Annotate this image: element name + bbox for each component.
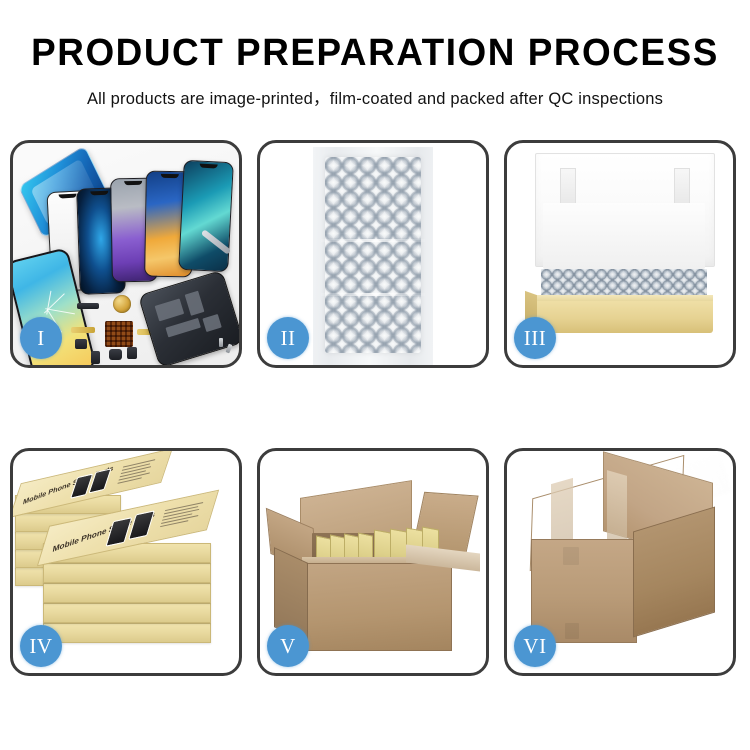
part-copper-mesh [105,321,133,347]
part-flex-cable-left [71,327,95,333]
step-badge-1: I [20,317,62,359]
process-panel-3: III [504,140,736,368]
process-panel-2: II [257,140,489,368]
process-panel-grid: I II III [10,140,740,676]
page-title: PRODUCT PREPARATION PROCESS [11,34,739,74]
process-panel-1: I [10,140,242,368]
box-stack-right-3 [43,583,211,603]
step-badge-5: V [267,625,309,667]
wrap-seam-2 [321,293,425,296]
box-stack-right-5 [43,623,211,643]
kraft-box-front [533,301,713,333]
step-badge-3: III [514,317,556,359]
page-subtitle: All products are image-printed，film-coat… [0,85,750,109]
part-speaker-bar [77,303,99,309]
process-panel-6: VI [504,448,736,676]
step-badge-2: II [267,317,309,359]
phone-screen-teal [178,160,234,272]
part-gold-coil [113,295,131,313]
step-badge-4: IV [20,625,62,667]
carton-front-panel [531,539,637,643]
header: PRODUCT PREPARATION PROCESS All products… [0,0,750,109]
carton-front-face [302,563,452,651]
step-badge-6: VI [514,625,556,667]
part-connector-a [75,339,87,349]
bubble-wrap-texture [325,157,421,353]
box-stack-right-2 [43,563,211,583]
screw-1 [219,338,223,347]
box-stack-right-4 [43,603,211,623]
phone-back-housing [138,270,239,365]
process-panel-5: V [257,448,489,676]
part-button-flex [91,351,100,364]
foam-sheet [543,203,705,269]
process-panel-4: Mobile Phone Spare Parts Mobile Phone Sp… [10,448,242,676]
part-camera-module [109,349,122,360]
carton-fold-tab-bottom [565,623,579,639]
wrap-seam-1 [321,239,425,242]
part-vibrator [127,347,137,359]
carton-fold-tab-top [563,547,579,565]
